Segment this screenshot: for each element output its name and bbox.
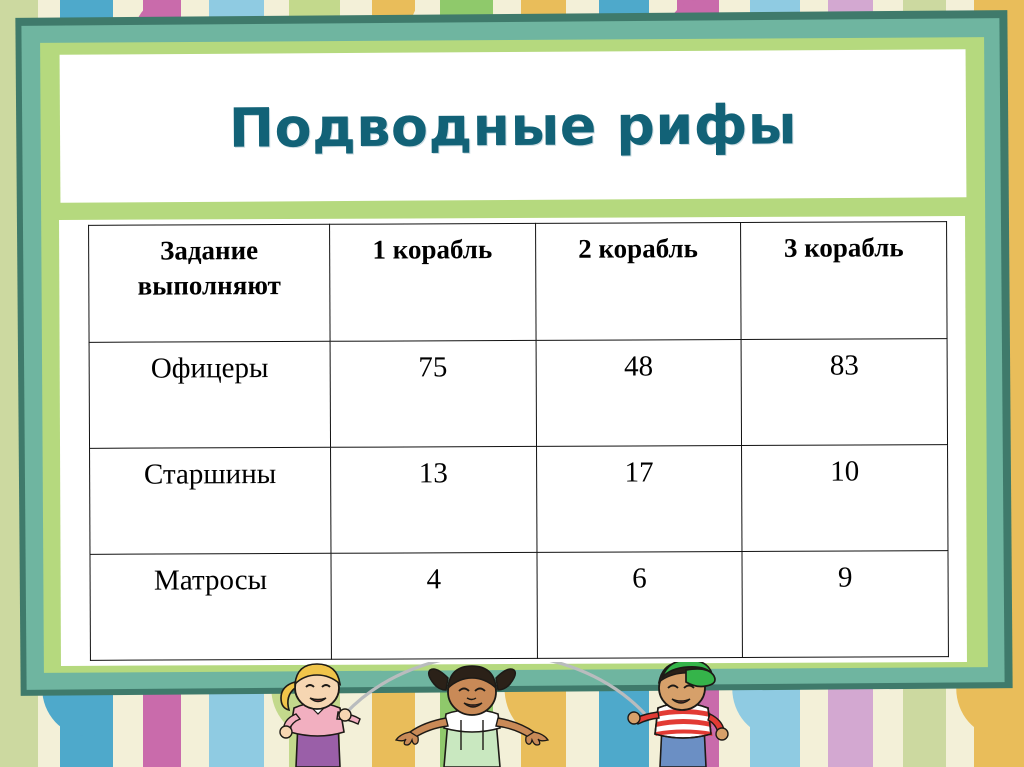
row-label-petty-officers: Старшины (90, 447, 331, 554)
girl-blonde-pink-shirt (280, 664, 360, 767)
slide-root: Подводные рифы Задание выполняют 1 кораб… (0, 0, 1024, 767)
row-label-officers: Офицеры (89, 341, 330, 448)
row-label-sailors: Матросы (90, 553, 331, 660)
cell-petty-officers-ship2: 17 (536, 446, 742, 553)
table-card: Задание выполняют 1 корабль 2 корабль 3 … (59, 216, 967, 666)
cell-officers-ship2: 48 (536, 340, 742, 447)
header-task-line1: Задание (160, 235, 258, 265)
cell-officers-ship3: 83 (741, 339, 947, 446)
table-header-row: Задание выполняют 1 корабль 2 корабль 3 … (89, 222, 948, 343)
ships-task-table: Задание выполняют 1 корабль 2 корабль 3 … (88, 221, 949, 661)
cell-sailors-ship2: 6 (537, 552, 743, 659)
table-row: Старшины 13 17 10 (90, 445, 948, 555)
cell-petty-officers-ship3: 10 (742, 445, 948, 552)
cell-sailors-ship3: 9 (742, 551, 948, 658)
three-children-jumping-rope-illustration (270, 662, 740, 767)
boy-green-cap-striped-shirt (628, 662, 728, 767)
table-header-ship-1: 1 корабль (329, 223, 535, 341)
header-task-line2: выполняют (138, 270, 281, 301)
page-title: Подводные рифы (229, 93, 798, 159)
table-row: Офицеры 75 48 83 (89, 339, 947, 449)
girl-dark-overalls (396, 666, 548, 767)
cell-sailors-ship1: 4 (331, 552, 537, 659)
title-card: Подводные рифы (60, 49, 967, 203)
table-row: Матросы 4 6 9 (90, 551, 948, 661)
table-header-ship-3: 3 корабль (741, 222, 947, 340)
table-header-task: Задание выполняют (89, 224, 330, 342)
cell-petty-officers-ship1: 13 (330, 446, 536, 553)
cell-officers-ship1: 75 (330, 340, 536, 447)
table-header-ship-2: 2 корабль (535, 223, 741, 341)
